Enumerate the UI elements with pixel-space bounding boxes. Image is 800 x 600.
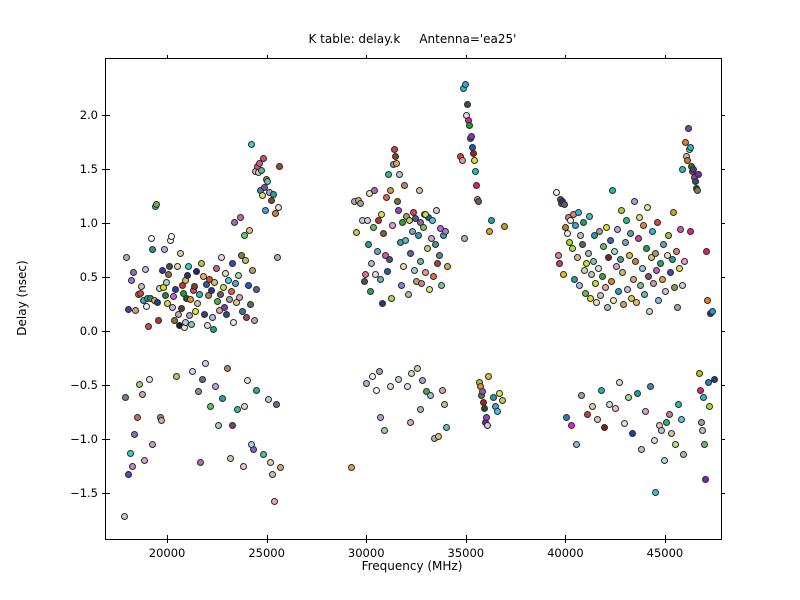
x-tick-mark: [167, 539, 168, 543]
scatter-point: [368, 260, 375, 267]
scatter-point: [626, 252, 633, 259]
scatter-point: [555, 252, 562, 259]
scatter-point: [245, 282, 252, 289]
scatter-point: [596, 228, 603, 235]
scatter-point: [579, 241, 586, 248]
scatter-point: [235, 272, 242, 279]
y-tick-mark-right: [721, 493, 725, 494]
figure-canvas: K table: delay.k Antenna='ea25' −1.5−1.0…: [0, 0, 800, 600]
scatter-point: [642, 408, 649, 415]
x-tick-mark-top: [267, 55, 268, 59]
scatter-point: [620, 301, 627, 308]
y-tick-mark-inner: [106, 115, 110, 116]
scatter-point: [170, 293, 177, 300]
scatter-point: [624, 286, 631, 293]
scatter-point: [584, 411, 591, 418]
scatter-point: [142, 266, 149, 273]
scatter-point: [191, 283, 198, 290]
scatter-point: [660, 241, 667, 248]
scatter-point: [484, 422, 491, 429]
scatter-point: [666, 411, 673, 418]
scatter-point: [264, 178, 271, 185]
scatter-point: [248, 441, 255, 448]
scatter-point: [244, 377, 251, 384]
scatter-point: [652, 250, 659, 257]
y-tick-mark-right: [721, 331, 725, 332]
scatter-point: [219, 395, 226, 402]
y-tick-mark-right: [721, 169, 725, 170]
scatter-point: [402, 237, 409, 244]
scatter-point: [182, 319, 189, 326]
scatter-point: [588, 271, 595, 278]
scatter-point: [217, 291, 224, 298]
scatter-point: [621, 420, 628, 427]
scatter-point: [130, 269, 137, 276]
scatter-point: [631, 198, 638, 205]
scatter-point: [439, 387, 446, 394]
scatter-point: [603, 224, 610, 231]
scatter-point: [187, 296, 194, 303]
scatter-point: [649, 228, 656, 235]
scatter-point: [236, 294, 243, 301]
scatter-point: [678, 416, 685, 423]
scatter-point: [662, 288, 669, 295]
scatter-point: [630, 276, 637, 283]
scatter-point: [643, 245, 650, 252]
scatter-point: [228, 288, 235, 295]
scatter-point: [681, 258, 688, 265]
scatter-point: [365, 241, 372, 248]
scatter-point: [202, 360, 209, 367]
scatter-point: [663, 419, 670, 426]
scatter-point: [635, 235, 642, 242]
scatter-point: [269, 471, 276, 478]
scatter-point: [153, 201, 160, 208]
scatter-point: [671, 284, 678, 291]
scatter-point: [227, 455, 234, 462]
scatter-point: [592, 280, 599, 287]
y-tick-mark-right: [721, 277, 725, 278]
scatter-point: [616, 379, 623, 386]
scatter-point: [485, 373, 492, 380]
scatter-point: [414, 365, 421, 372]
scatter-point: [141, 457, 148, 464]
scatter-point: [499, 397, 506, 404]
scatter-point: [613, 263, 620, 270]
scatter-point: [699, 427, 706, 434]
scatter-point: [564, 230, 571, 237]
scatter-point: [647, 383, 654, 390]
scatter-point: [385, 171, 392, 178]
scatter-point: [703, 248, 710, 255]
scatter-point: [637, 282, 644, 289]
x-tick-mark: [565, 539, 566, 543]
scatter-point: [659, 276, 666, 283]
scatter-point: [623, 217, 630, 224]
scatter-point: [242, 257, 249, 264]
scatter-point: [276, 163, 283, 170]
scatter-point: [270, 191, 277, 198]
scatter-point: [220, 284, 227, 291]
x-tick-label: 25000: [248, 546, 285, 560]
scatter-point: [609, 187, 616, 194]
scatter-point: [374, 248, 381, 255]
scatter-point: [367, 288, 374, 295]
scatter-point: [172, 286, 179, 293]
scatter-point: [601, 424, 608, 431]
scatter-point: [672, 441, 679, 448]
page-title: K table: delay.k Antenna='ea25': [105, 32, 720, 46]
y-tick-mark-right: [721, 115, 725, 116]
scatter-point: [177, 250, 184, 257]
y-tick-mark-inner: [106, 439, 110, 440]
scatter-point: [386, 256, 393, 263]
scatter-point: [486, 228, 493, 235]
scatter-point: [633, 299, 640, 306]
scatter-point: [615, 288, 622, 295]
scatter-point: [364, 217, 371, 224]
scatter-point: [417, 258, 424, 265]
y-tick-mark-right: [721, 385, 725, 386]
scatter-point: [258, 167, 265, 174]
scatter-point: [375, 217, 382, 224]
scatter-point: [377, 414, 384, 421]
scatter-point: [598, 387, 605, 394]
scatter-point: [419, 377, 426, 384]
scatter-point: [271, 498, 278, 505]
scatter-point: [706, 403, 713, 410]
scatter-point: [605, 254, 612, 261]
scatter-point: [494, 408, 501, 415]
y-tick-label: −1.5: [70, 486, 98, 500]
scatter-point: [654, 219, 661, 226]
scatter-point: [376, 368, 383, 375]
scatter-point: [137, 290, 144, 297]
scatter-point: [371, 187, 378, 194]
scatter-point: [125, 306, 132, 313]
y-tick-mark-inner: [106, 331, 110, 332]
scatter-point: [249, 267, 256, 274]
scatter-point: [260, 451, 267, 458]
scatter-point: [395, 207, 402, 214]
scatter-point: [162, 292, 169, 299]
scatter-point: [122, 394, 129, 401]
scatter-point: [265, 396, 272, 403]
scatter-point: [198, 260, 205, 267]
scatter-point: [638, 446, 645, 453]
scatter-point: [556, 260, 563, 267]
scatter-point: [704, 297, 711, 304]
scatter-point: [589, 403, 596, 410]
scatter-point: [379, 300, 386, 307]
scatter-point: [253, 286, 260, 293]
scatter-point: [388, 295, 395, 302]
scatter-point: [195, 388, 202, 395]
scatter-point: [679, 166, 686, 173]
x-axis-label: Frequency (MHz): [362, 559, 463, 573]
scatter-point: [501, 223, 508, 230]
scatter-point: [670, 209, 677, 216]
scatter-point: [430, 273, 437, 280]
scatter-point: [436, 252, 443, 259]
scatter-point: [696, 370, 703, 377]
scatter-point: [128, 277, 135, 284]
scatter-point: [462, 81, 469, 88]
scatter-point: [614, 226, 621, 233]
scatter-point: [468, 133, 475, 140]
scatter-point: [657, 260, 664, 267]
scatter-point: [607, 237, 614, 244]
scatter-point: [575, 209, 582, 216]
scatter-point: [277, 464, 284, 471]
scatter-point: [387, 187, 394, 194]
scatter-point: [207, 403, 214, 410]
scatter-point: [650, 280, 657, 287]
y-tick-mark-right: [721, 439, 725, 440]
scatter-point: [362, 271, 369, 278]
scatter-point: [138, 283, 145, 290]
x-tick-mark-inner: [466, 535, 467, 539]
scatter-point: [483, 414, 490, 421]
scatter-point: [175, 311, 182, 318]
scatter-point: [231, 219, 238, 226]
scatter-point: [209, 314, 216, 321]
scatter-point: [701, 441, 708, 448]
scatter-point: [586, 213, 593, 220]
scatter-point: [148, 235, 155, 242]
scatter-point: [473, 182, 480, 189]
scatter-point: [429, 217, 436, 224]
scatter-point: [145, 323, 152, 330]
scatter-point: [697, 387, 704, 394]
scatter-point: [174, 263, 181, 270]
scatter-point: [396, 171, 403, 178]
scatter-point: [645, 273, 652, 280]
scatter-point: [580, 219, 587, 226]
scatter-point: [199, 376, 206, 383]
y-axis-label: Delay (nsec): [15, 260, 29, 335]
scatter-point: [387, 383, 394, 390]
scatter-point: [267, 459, 274, 466]
scatter-point: [370, 224, 377, 231]
scatter-point: [479, 388, 486, 395]
scatter-point: [404, 383, 411, 390]
scatter-point: [687, 228, 694, 235]
scatter-point: [392, 153, 399, 160]
scatter-point: [393, 160, 400, 167]
scatter-point: [246, 227, 253, 234]
scatter-point: [619, 269, 626, 276]
scatter-point: [173, 373, 180, 380]
scatter-point: [472, 168, 479, 175]
scatter-point: [193, 268, 200, 275]
scatter-point: [251, 317, 258, 324]
scatter-point: [234, 406, 241, 413]
scatter-point: [577, 232, 584, 239]
scatter-point: [667, 269, 674, 276]
scatter-point: [459, 157, 466, 164]
x-tick-mark: [366, 539, 367, 543]
scatter-point: [357, 200, 364, 207]
x-tick-mark-inner: [267, 535, 268, 539]
scatter-point: [149, 246, 156, 253]
scatter-point: [210, 326, 217, 333]
scatter-point: [461, 235, 468, 242]
scatter-point: [602, 284, 609, 291]
x-tick-label: 40000: [547, 546, 584, 560]
x-tick-mark: [466, 539, 467, 543]
scatter-point: [661, 457, 668, 464]
scatter-point: [572, 222, 579, 229]
scatter-point: [709, 308, 716, 315]
scatter-point: [677, 226, 684, 233]
scatter-point: [442, 228, 449, 235]
scatter-point: [185, 263, 192, 270]
scatter-point: [687, 144, 694, 151]
scatter-point: [443, 424, 450, 431]
scatter-point: [208, 287, 215, 294]
x-tick-mark-inner: [167, 535, 168, 539]
scatter-point: [125, 471, 132, 478]
scatter-point: [221, 304, 228, 311]
scatter-point: [590, 258, 597, 265]
scatter-point: [611, 248, 618, 255]
y-tick-label: −0.5: [70, 378, 98, 392]
scatter-point: [253, 387, 260, 394]
scatter-point: [225, 277, 232, 284]
scatter-point: [226, 296, 233, 303]
y-tick-mark-inner: [106, 169, 110, 170]
scatter-point: [583, 260, 590, 267]
x-tick-mark: [665, 539, 666, 543]
scatter-point: [192, 308, 199, 315]
scatter-point: [488, 217, 495, 224]
scatter-point: [595, 265, 602, 272]
scatter-point: [475, 198, 482, 205]
scatter-point: [149, 441, 156, 448]
scatter-point: [420, 224, 427, 231]
y-tick-label: −1.0: [70, 432, 98, 446]
scatter-point: [184, 272, 191, 279]
scatter-point: [415, 232, 422, 239]
scatter-point: [560, 271, 567, 278]
scatter-point: [622, 239, 629, 246]
y-tick-mark-inner: [106, 223, 110, 224]
scatter-point: [568, 422, 575, 429]
scatter-point: [348, 464, 355, 471]
scatter-point: [405, 291, 412, 298]
scatter-point: [123, 254, 130, 261]
scatter-point: [224, 365, 231, 372]
scatter-point: [132, 307, 139, 314]
scatter-point: [578, 392, 585, 399]
scatter-point: [665, 232, 672, 239]
scatter-point: [640, 222, 647, 229]
scatter-point: [634, 390, 641, 397]
scatter-point: [373, 387, 380, 394]
scatter-point: [674, 304, 681, 311]
scatter-point: [700, 394, 707, 401]
x-tick-label: 30000: [348, 546, 385, 560]
x-tick-mark-inner: [366, 535, 367, 539]
scatter-point: [197, 459, 204, 466]
scatter-point: [417, 406, 424, 413]
scatter-point: [154, 299, 161, 306]
x-tick-mark-inner: [565, 535, 566, 539]
scatter-point: [435, 433, 442, 440]
scatter-point: [561, 201, 568, 208]
scatter-point: [675, 401, 682, 408]
scatter-point: [668, 430, 675, 437]
scatter-point: [178, 305, 185, 312]
scatter-point: [695, 171, 702, 178]
scatter-point: [652, 489, 659, 496]
y-tick-label: 1.5: [80, 162, 98, 176]
scatter-point: [215, 422, 222, 429]
x-tick-label: 45000: [647, 546, 684, 560]
scatter-point: [129, 463, 136, 470]
scatter-point: [394, 198, 401, 205]
scatter-point: [563, 414, 570, 421]
y-tick-mark-inner: [106, 493, 110, 494]
scatter-point: [194, 300, 201, 307]
scatter-point: [441, 401, 448, 408]
scatter-point: [143, 303, 150, 310]
scatter-point: [229, 422, 236, 429]
scatter-point: [610, 297, 617, 304]
scatter-point: [214, 298, 221, 305]
scatter-point: [363, 380, 370, 387]
scatter-point: [585, 250, 592, 257]
scatter-point: [237, 214, 244, 221]
scatter-point: [416, 187, 423, 194]
scatter-point: [569, 245, 576, 252]
scatter-point: [127, 450, 134, 457]
scatter-point: [711, 376, 718, 383]
scatter-point: [573, 441, 580, 448]
scatter-point: [378, 211, 385, 218]
scatter-point: [243, 314, 250, 321]
scatter-point: [274, 254, 281, 261]
scatter-point: [646, 308, 653, 315]
y-tick-mark-inner: [106, 385, 110, 386]
scatter-point: [380, 230, 387, 237]
scatter-point: [629, 430, 636, 437]
scatter-point: [377, 276, 384, 283]
scatter-point: [655, 297, 662, 304]
scatter-point: [618, 207, 625, 214]
scatter-point: [275, 204, 282, 211]
x-tick-mark-top: [565, 55, 566, 59]
scatter-point: [189, 368, 196, 375]
scatter-point: [213, 265, 220, 272]
scatter-point: [230, 319, 237, 326]
scatter-point: [599, 273, 606, 280]
scatter-point: [384, 268, 391, 275]
scatter-point: [673, 248, 680, 255]
scatter-point: [131, 431, 138, 438]
scatter-point: [617, 256, 624, 263]
scatter-point: [411, 267, 418, 274]
scatter-point: [399, 219, 406, 226]
y-tick-label: 2.0: [80, 108, 98, 122]
scatter-point: [262, 207, 269, 214]
scatter-point: [653, 267, 660, 274]
scatter-point: [273, 401, 280, 408]
scatter-point: [679, 282, 686, 289]
scatter-point: [201, 311, 208, 318]
scatter-point: [433, 207, 440, 214]
